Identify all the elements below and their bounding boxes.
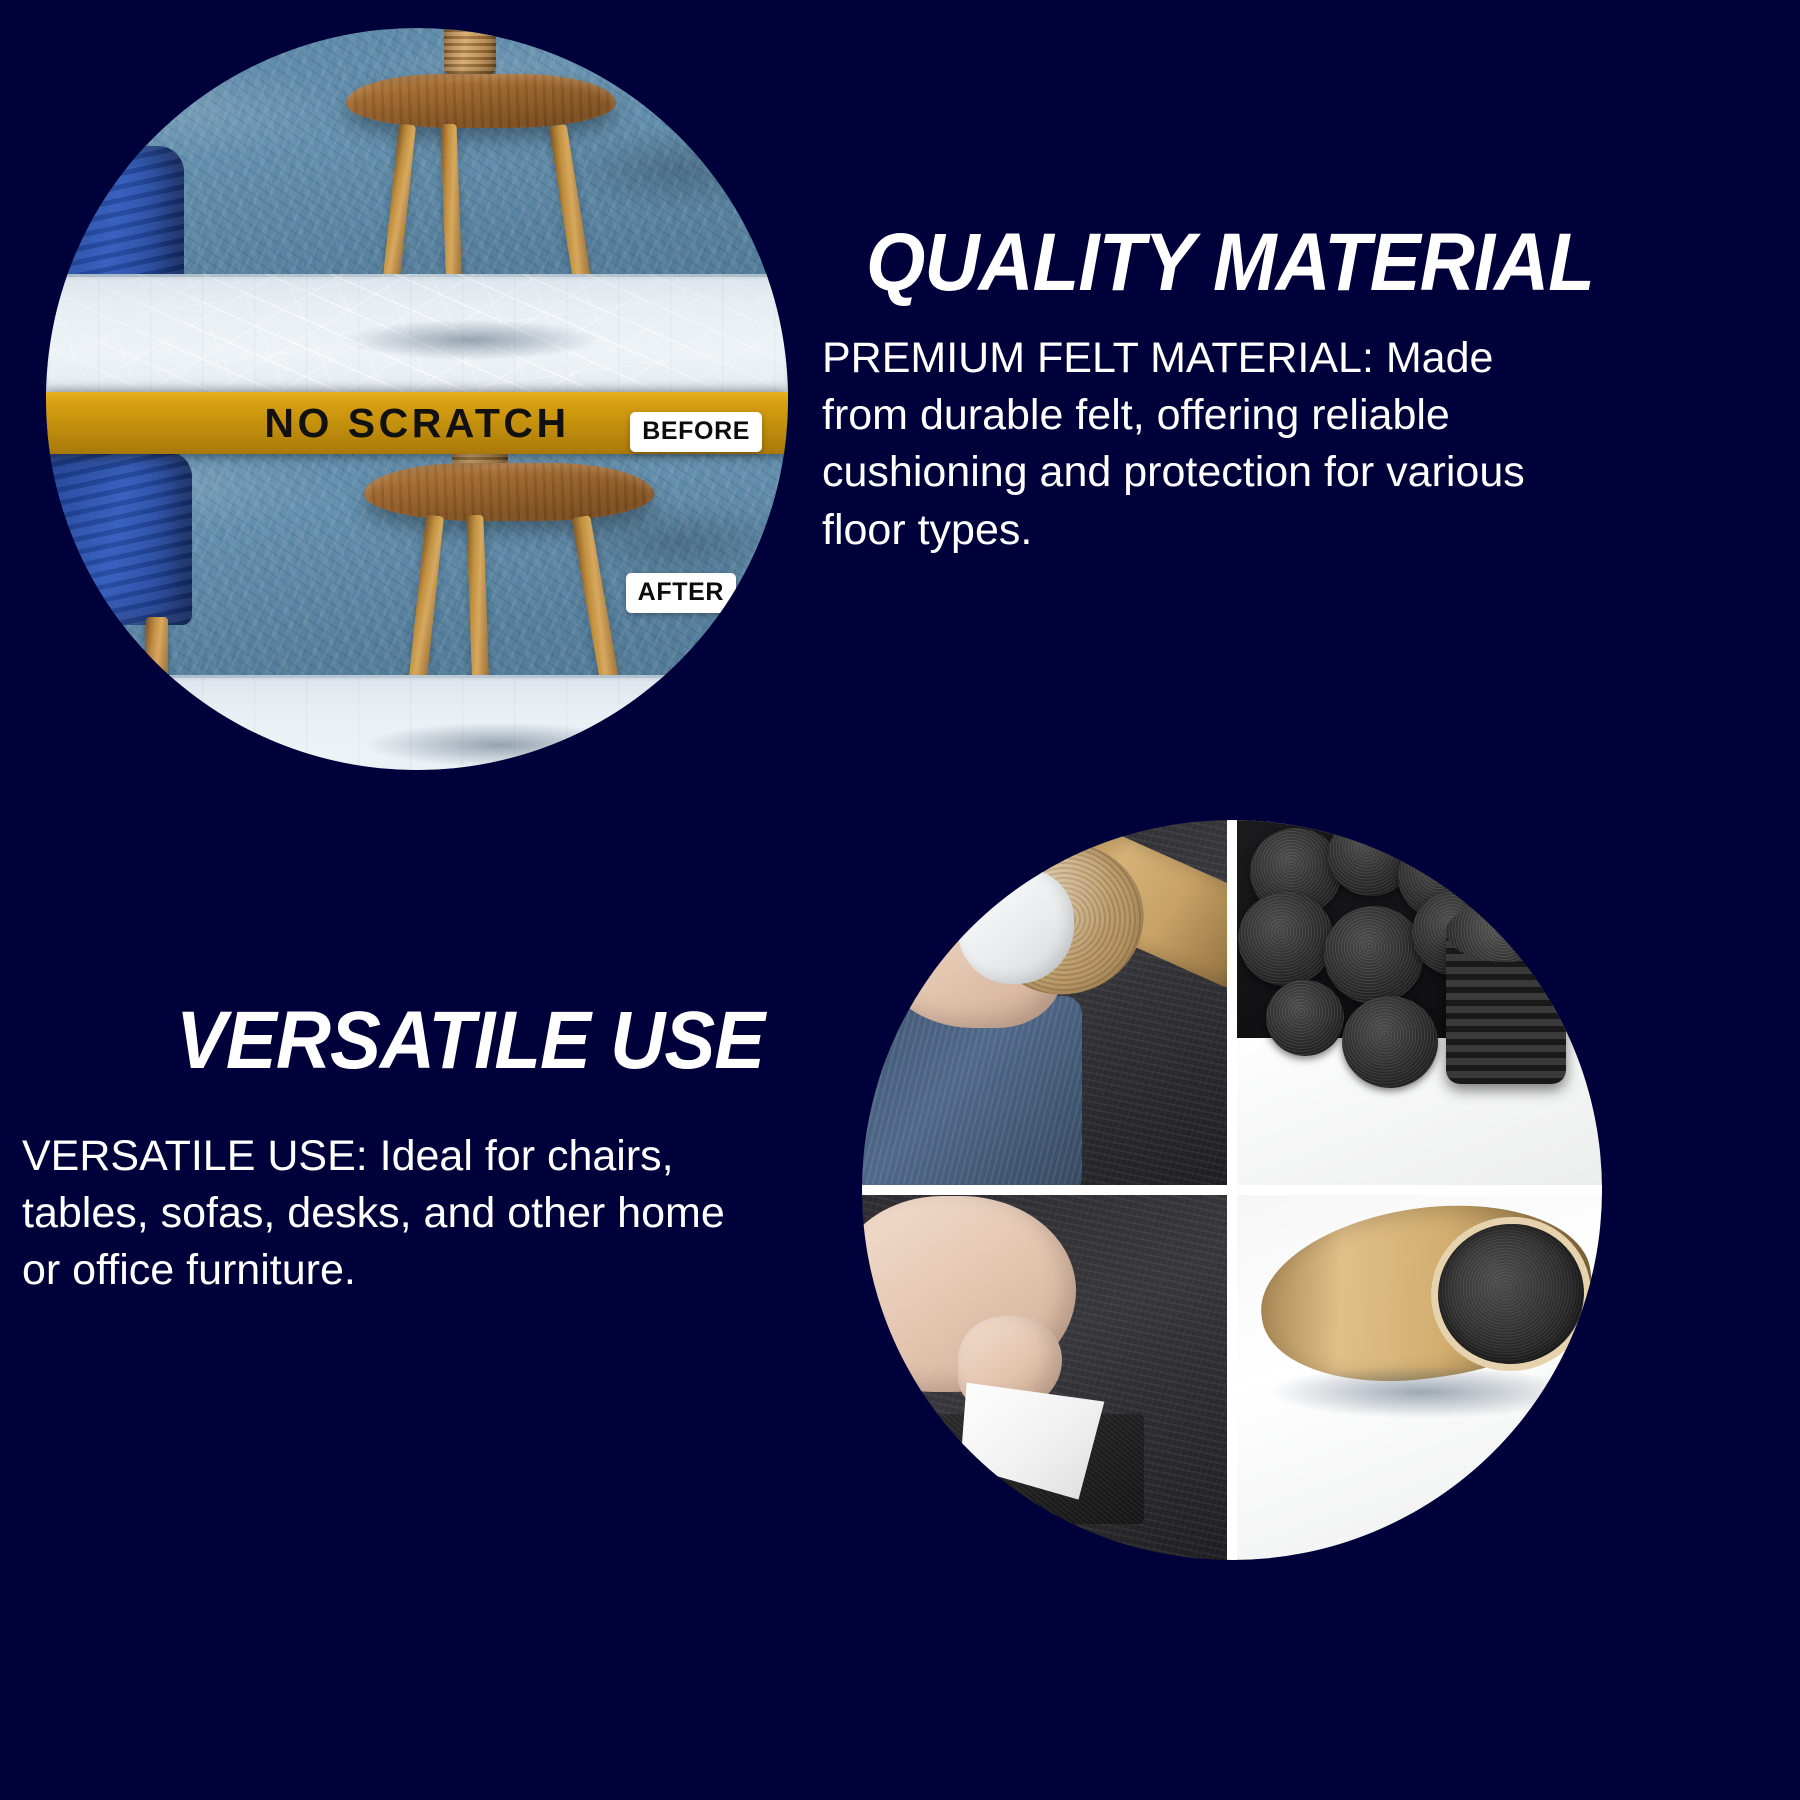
- versatile-use-body: VERSATILE USE: Ideal for chairs, tables,…: [22, 1128, 762, 1300]
- collage-quadrant-peeling-backing: [862, 1190, 1232, 1560]
- felt-disc: [1324, 906, 1424, 1004]
- collage-divider-horizontal: [862, 1185, 1602, 1195]
- felt-pad-stack-top-disc: [1446, 902, 1566, 962]
- quality-material-body: PREMIUM FELT MATERIAL: Made from durable…: [822, 330, 1584, 559]
- vase-before: [444, 28, 496, 74]
- felt-disc: [1266, 980, 1344, 1056]
- before-badge: BEFORE: [630, 412, 762, 452]
- sofa-after: [46, 451, 192, 625]
- no-scratch-label: NO SCRATCH: [264, 400, 569, 447]
- after-badge: AFTER: [626, 573, 736, 613]
- table-shadow-before: [346, 320, 596, 360]
- white-adhesive-film: [958, 868, 1074, 984]
- felt-disc: [1238, 892, 1334, 986]
- before-scene: [46, 28, 788, 403]
- collage-quadrant-applying-pad: [862, 820, 1232, 1190]
- felt-disc: [1342, 996, 1438, 1088]
- versatile-use-heading: VERSATILE USE: [176, 1000, 764, 1082]
- leg-shadow: [1272, 1366, 1572, 1418]
- collage-quadrant-pad-attached: [1232, 1190, 1602, 1560]
- product-usage-collage: [862, 820, 1602, 1560]
- floor-seam-after: [46, 675, 788, 678]
- table-top-before: [346, 74, 616, 128]
- collage-quadrant-felt-pads-pile: [1232, 820, 1602, 1190]
- before-after-photo: NO SCRATCH BEFORE AFTER: [46, 28, 788, 770]
- table-top-after: [364, 463, 654, 521]
- infographic-canvas: NO SCRATCH BEFORE AFTER QUALITY MATERIAL…: [0, 0, 1800, 1800]
- quality-material-heading: QUALITY MATERIAL: [866, 222, 1594, 304]
